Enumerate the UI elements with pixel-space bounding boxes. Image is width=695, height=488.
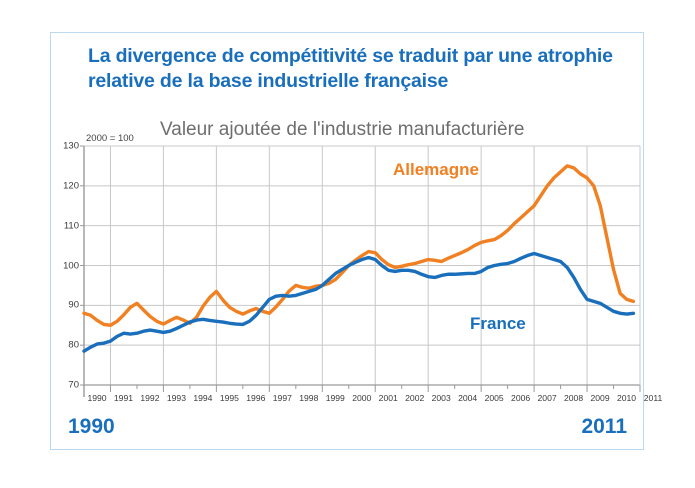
x-axis-tick-label: 2001 bbox=[379, 393, 398, 403]
x-axis-tick-label: 2004 bbox=[458, 393, 477, 403]
x-axis-tick-label: 1993 bbox=[167, 393, 186, 403]
x-axis-tick-label: 1998 bbox=[299, 393, 318, 403]
range-start-year: 1990 bbox=[68, 415, 115, 439]
x-axis-tick-label: 2007 bbox=[538, 393, 557, 403]
x-axis-tick-label: 2003 bbox=[432, 393, 451, 403]
x-axis-tick-label: 1997 bbox=[273, 393, 292, 403]
x-axis-tick-label: 1996 bbox=[246, 393, 265, 403]
x-axis-tick-label: 2002 bbox=[405, 393, 424, 403]
x-axis-tick-label: 1995 bbox=[220, 393, 239, 403]
chart-page: La divergence de compétitivité se tradui… bbox=[0, 0, 695, 483]
x-axis-tick-label: 2009 bbox=[590, 393, 609, 403]
x-axis-labels: 1990199119921993199419951996199719981999… bbox=[0, 0, 695, 483]
x-axis-tick-label: 1990 bbox=[87, 393, 106, 403]
series-label-allemagne: Allemagne bbox=[393, 160, 479, 180]
x-axis-tick-label: 2011 bbox=[644, 393, 662, 403]
x-axis-tick-label: 1999 bbox=[326, 393, 345, 403]
x-axis-tick-label: 2010 bbox=[617, 393, 636, 403]
x-axis-tick-label: 2006 bbox=[511, 393, 530, 403]
series-label-france: France bbox=[470, 314, 526, 334]
x-axis-tick-label: 2008 bbox=[564, 393, 583, 403]
x-axis-tick-label: 1991 bbox=[114, 393, 133, 403]
x-axis-tick-label: 2005 bbox=[485, 393, 504, 403]
x-axis-tick-label: 1994 bbox=[193, 393, 212, 403]
range-end-year: 2011 bbox=[581, 415, 627, 439]
x-axis-tick-label: 2000 bbox=[352, 393, 371, 403]
x-axis-tick-label: 1992 bbox=[140, 393, 159, 403]
